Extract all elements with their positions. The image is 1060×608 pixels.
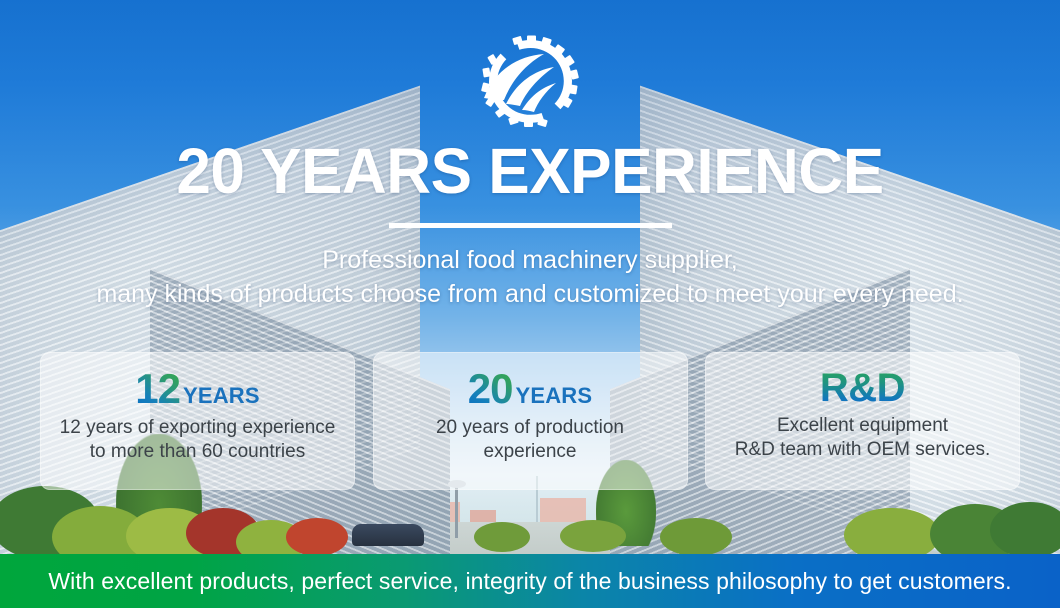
page-title: 20 YEARS EXPERIENCE: [16, 139, 1044, 203]
stat-description-line-2: experience: [436, 440, 624, 464]
stat-description-line-1: Excellent equipment: [735, 414, 991, 438]
subtitle-line-2: many kinds of products choose from and c…: [0, 277, 1060, 311]
banner-content: 20 YEARS EXPERIENCE Professional food ma…: [0, 0, 1060, 608]
subtitle-line-1: Professional food machinery supplier,: [0, 243, 1060, 277]
footer-tagline-bar: With excellent products, perfect service…: [0, 554, 1060, 608]
gear-wave-logo-icon: [470, 34, 590, 132]
stat-description-line-1: 20 years of production: [436, 416, 624, 440]
stat-value: R&D: [820, 368, 905, 408]
stat-description: 20 years of production experience: [436, 416, 624, 465]
stat-headline: 12 YEARS: [135, 368, 260, 410]
stat-value: 12: [135, 368, 180, 410]
stat-description-line-1: 12 years of exporting experience: [60, 416, 336, 440]
stat-unit: YEARS: [515, 385, 592, 407]
stat-unit: YEARS: [183, 385, 260, 407]
stat-value: 20: [468, 368, 513, 410]
stat-card-list: 12 YEARS 12 years of exporting experienc…: [40, 352, 1020, 490]
stat-description-line-2: to more than 60 countries: [60, 440, 336, 464]
title-underline-rule: [389, 223, 672, 228]
stat-description: Excellent equipment R&D team with OEM se…: [735, 414, 991, 463]
stat-card-exporting: 12 YEARS 12 years of exporting experienc…: [40, 352, 355, 490]
stat-description-line-2: R&D team with OEM services.: [735, 438, 991, 462]
promo-banner: 20 YEARS EXPERIENCE Professional food ma…: [0, 0, 1060, 608]
stat-headline: R&D: [820, 368, 905, 408]
stat-card-production: 20 YEARS 20 years of production experien…: [373, 352, 688, 490]
footer-tagline-text: With excellent products, perfect service…: [0, 568, 1060, 595]
stat-headline: 20 YEARS: [468, 368, 593, 410]
logo-container: [0, 34, 1060, 132]
subtitle: Professional food machinery supplier, ma…: [0, 243, 1060, 311]
stat-description: 12 years of exporting experience to more…: [60, 416, 336, 465]
stat-card-rd: R&D Excellent equipment R&D team with OE…: [705, 352, 1020, 490]
